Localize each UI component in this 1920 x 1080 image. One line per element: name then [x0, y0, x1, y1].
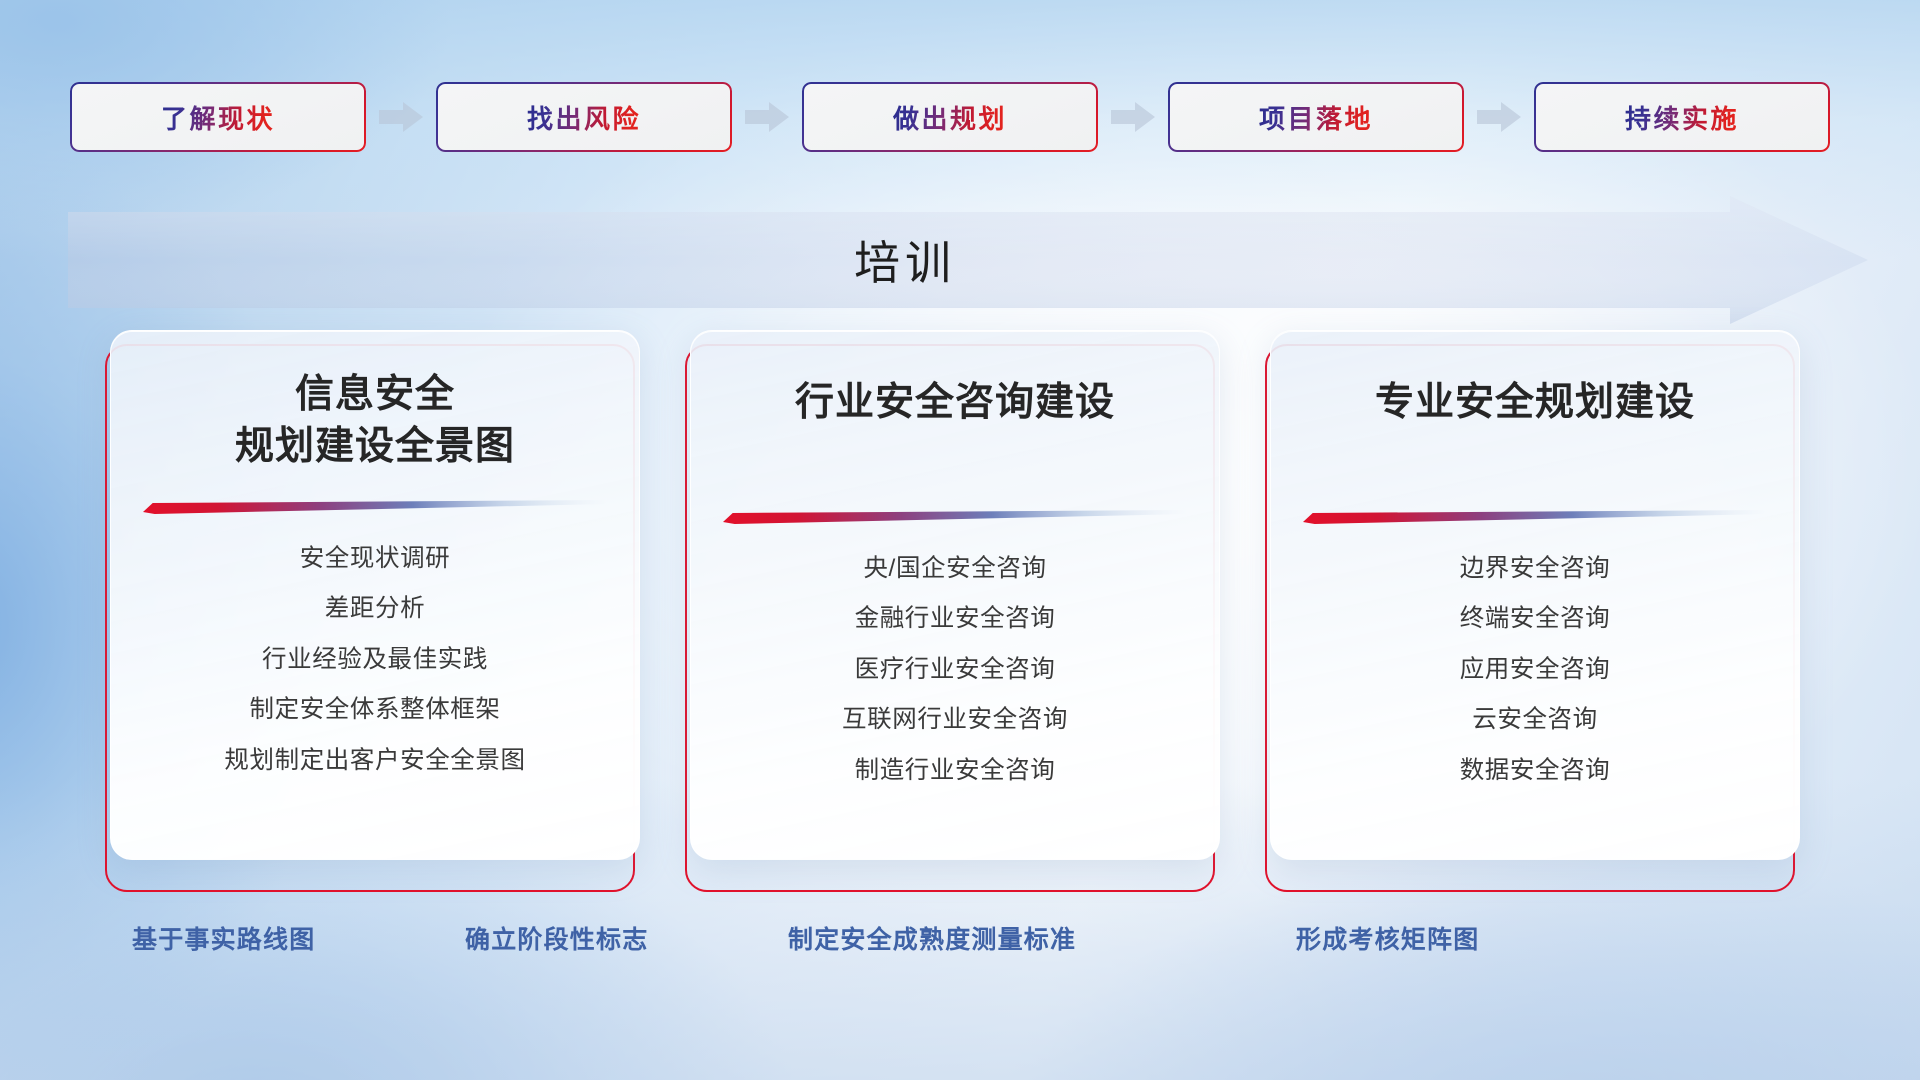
- card-list-3: 边界安全咨询 终端安全咨询 应用安全咨询 云安全咨询 数据安全咨询: [1297, 557, 1773, 784]
- gradient-divider-icon: [723, 509, 1187, 525]
- card-row: 信息安全 规划建设全景图: [0, 330, 1920, 890]
- step-box-1[interactable]: 了解现状: [70, 82, 366, 152]
- list-item: 医疗行业安全咨询: [717, 658, 1193, 683]
- list-item: 制定安全体系整体框架: [137, 698, 613, 723]
- training-banner-title: 培训: [68, 196, 1742, 324]
- gradient-divider-icon: [1303, 509, 1767, 525]
- card-title-line-2: 规划建设全景图: [137, 421, 613, 473]
- footer-label-4: 形成考核矩阵图: [1296, 920, 1479, 956]
- gradient-divider-icon: [143, 499, 607, 515]
- list-item: 央/国企安全咨询: [717, 557, 1193, 582]
- card-title-2: 行业安全咨询建设: [717, 377, 1193, 429]
- list-item: 规划制定出客户安全全景图: [137, 749, 613, 774]
- step-label-5: 持续实施: [1625, 99, 1739, 136]
- arrow-right-icon: [1111, 100, 1155, 134]
- card-2[interactable]: 行业安全咨询建设: [690, 330, 1220, 860]
- list-item: 云安全咨询: [1297, 708, 1773, 733]
- card-3[interactable]: 专业安全规划建设: [1270, 330, 1800, 860]
- step-label-1: 了解现状: [161, 99, 275, 136]
- step-box-4[interactable]: 项目落地: [1168, 82, 1464, 152]
- step-box-3[interactable]: 做出规划: [802, 82, 1098, 152]
- list-item: 应用安全咨询: [1297, 658, 1773, 683]
- list-item: 数据安全咨询: [1297, 759, 1773, 784]
- step-label-2: 找出风险: [527, 99, 641, 136]
- arrow-right-icon: [1477, 100, 1521, 134]
- list-item: 互联网行业安全咨询: [717, 708, 1193, 733]
- arrow-right-icon: [745, 100, 789, 134]
- card-slot-3: 专业安全规划建设: [1270, 330, 1800, 890]
- card-title-line-1: 信息安全: [137, 369, 613, 421]
- card-title-line-1: 行业安全咨询建设: [717, 377, 1193, 429]
- card-slot-1: 信息安全 规划建设全景图: [110, 330, 640, 890]
- list-item: 金融行业安全咨询: [717, 607, 1193, 632]
- footer-label-3: 制定安全成熟度测量标准: [788, 920, 1076, 956]
- step-box-2[interactable]: 找出风险: [436, 82, 732, 152]
- arrow-right-icon: [379, 100, 423, 134]
- footer-label-row: 基于事实路线图 确立阶段性标志 制定安全成熟度测量标准 形成考核矩阵图: [0, 920, 1920, 976]
- card-1[interactable]: 信息安全 规划建设全景图: [110, 330, 640, 860]
- footer-label-1: 基于事实路线图: [132, 920, 315, 956]
- card-title-3: 专业安全规划建设: [1297, 377, 1773, 429]
- card-list-1: 安全现状调研 差距分析 行业经验及最佳实践 制定安全体系整体框架 规划制定出客户…: [137, 547, 613, 774]
- card-slot-2: 行业安全咨询建设: [690, 330, 1220, 890]
- process-step-row: 了解现状 找出风险 做出规划 项目落地 持续实施: [70, 78, 1850, 156]
- list-item: 终端安全咨询: [1297, 607, 1773, 632]
- step-label-4: 项目落地: [1259, 99, 1373, 136]
- list-item: 安全现状调研: [137, 547, 613, 572]
- list-item: 差距分析: [137, 597, 613, 622]
- card-title-line-1: 专业安全规划建设: [1297, 377, 1773, 429]
- step-box-5[interactable]: 持续实施: [1534, 82, 1830, 152]
- list-item: 边界安全咨询: [1297, 557, 1773, 582]
- list-item: 行业经验及最佳实践: [137, 648, 613, 673]
- card-list-2: 央/国企安全咨询 金融行业安全咨询 医疗行业安全咨询 互联网行业安全咨询 制造行…: [717, 557, 1193, 784]
- list-item: 制造行业安全咨询: [717, 759, 1193, 784]
- training-banner: 培训: [68, 196, 1868, 324]
- step-label-3: 做出规划: [893, 99, 1007, 136]
- card-title-1: 信息安全 规划建设全景图: [137, 369, 613, 473]
- footer-label-2: 确立阶段性标志: [465, 920, 648, 956]
